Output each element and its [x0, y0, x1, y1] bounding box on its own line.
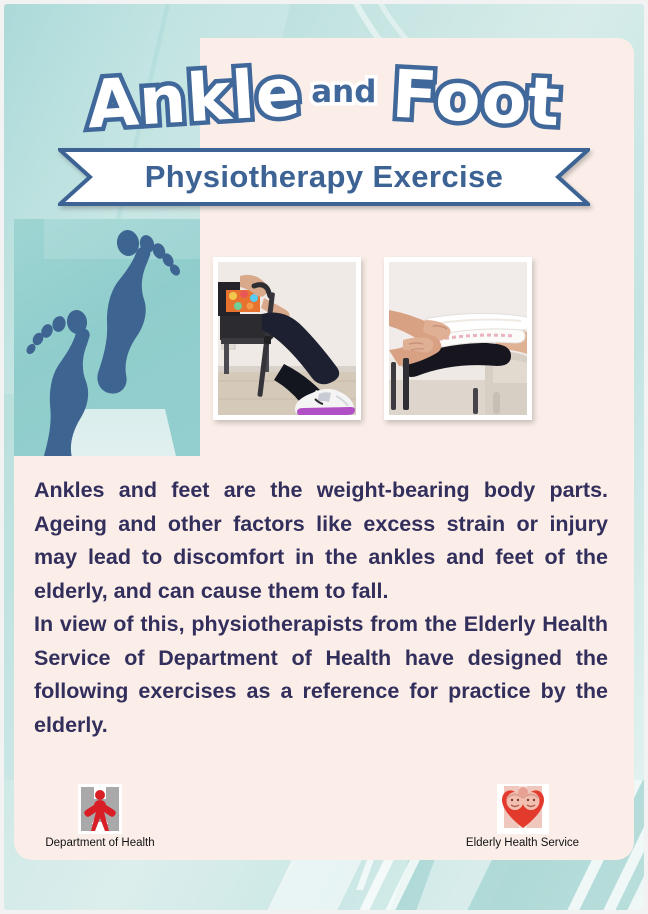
logo-department-of-health: Department of Health	[38, 784, 162, 849]
poster-root: AnkleandFoot Physiotherapy Exercise Ankl…	[0, 0, 648, 914]
body-copy: Ankles and feet are the weight-bearing b…	[34, 474, 608, 742]
footprints-illustration	[14, 219, 200, 456]
logo-elderly-health-service: Elderly Health Service	[455, 784, 590, 849]
photo-seated-leg-extension-art	[218, 262, 356, 415]
body-paragraph-2: In view of this, physiotherapists from t…	[34, 608, 608, 742]
photo-towel-stretch-art	[389, 262, 527, 415]
elderly-health-service-caption: Elderly Health Service	[455, 837, 590, 849]
title-conjunction: and	[311, 74, 376, 110]
department-of-health-icon	[78, 784, 122, 834]
title-word-foot: Foot	[391, 56, 563, 142]
footprints-svg	[14, 219, 200, 456]
photo-seated-leg-extension	[213, 257, 361, 420]
subtitle-ribbon: Physiotherapy Exercise	[58, 148, 590, 206]
title-word-ankle: Ankle	[85, 54, 304, 144]
elderly-health-service-icon	[497, 784, 549, 834]
subtitle-text: Physiotherapy Exercise	[58, 148, 590, 206]
body-paragraph-1: Ankles and feet are the weight-bearing b…	[34, 474, 608, 608]
department-of-health-caption: Department of Health	[38, 837, 162, 849]
photo-towel-stretch	[384, 257, 532, 420]
